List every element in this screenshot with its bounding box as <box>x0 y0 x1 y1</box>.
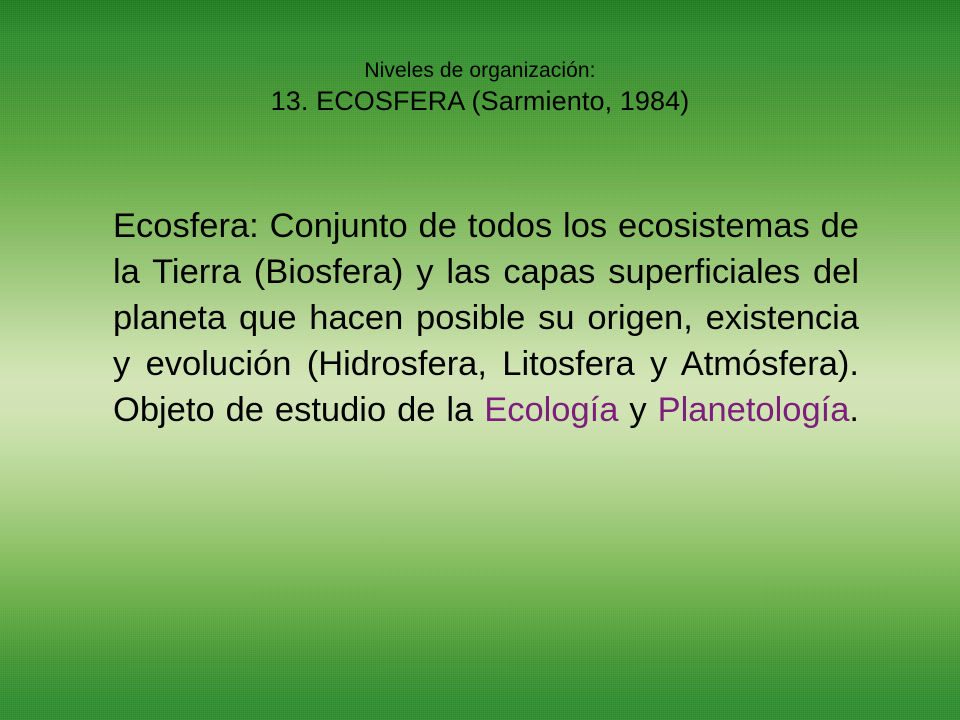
slide-body-text: Ecosfera: Conjunto de todos los ecosiste… <box>113 203 859 479</box>
presentation-slide: Niveles de organización: 13. ECOSFERA (S… <box>0 0 960 720</box>
title-line-subject: Niveles de organización: <box>0 60 960 88</box>
body-final-period: . <box>849 391 859 429</box>
body-conjunction: y <box>618 391 657 429</box>
highlighted-term-ecologia: Ecología <box>484 391 618 429</box>
body-paragraph: Ecosfera: Conjunto de todos los ecosiste… <box>113 203 859 479</box>
highlighted-term-planetologia: Planetología <box>658 391 850 429</box>
slide-title: Niveles de organización: 13. ECOSFERA (S… <box>0 60 960 115</box>
slide-content: Niveles de organización: 13. ECOSFERA (S… <box>0 0 960 720</box>
title-line-topic: 13. ECOSFERA (Sarmiento, 1984) <box>0 88 960 115</box>
